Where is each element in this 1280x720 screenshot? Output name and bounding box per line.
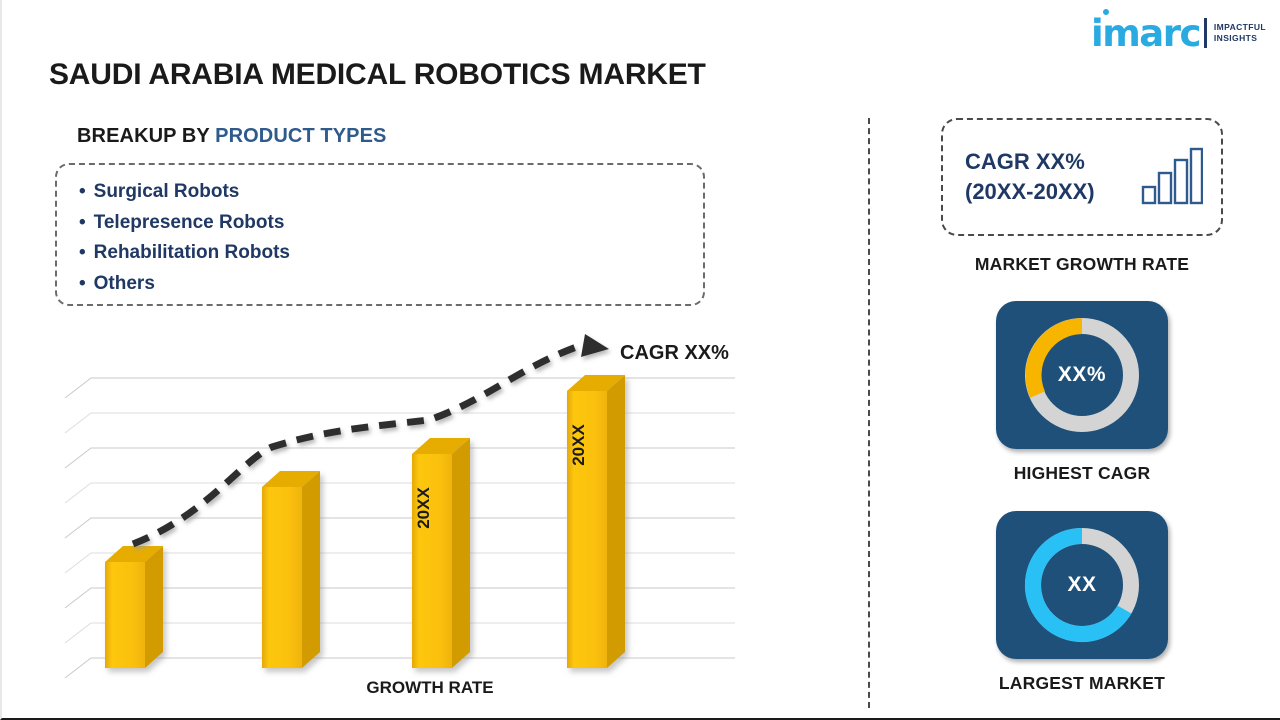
largest-market-caption: LARGEST MARKET	[902, 673, 1262, 694]
breakup-heading: BREAKUP BY PRODUCT TYPES	[77, 125, 387, 148]
product-types-list: Surgical Robots Telepresence Robots Reha…	[57, 165, 703, 299]
list-item: Others	[79, 269, 703, 300]
largest-market-tile: XX	[996, 511, 1168, 659]
market-growth-rate-caption: MARKET GROWTH RATE	[902, 254, 1262, 275]
cagr-line1: CAGR XX%	[965, 147, 1095, 177]
cagr-box: CAGR XX% (20XX-20XX)	[941, 118, 1223, 236]
stats-column: CAGR XX% (20XX-20XX) MARKET GROWTH RATE …	[902, 118, 1262, 694]
infographic-page: imarc IMPACTFUL INSIGHTS SAUDI ARABIA ME…	[0, 0, 1280, 720]
page-title: SAUDI ARABIA MEDICAL ROBOTICS MARKET	[49, 58, 706, 92]
highest-cagr-caption: HIGHEST CAGR	[902, 463, 1262, 484]
trend-arrow	[133, 334, 609, 544]
bar-4	[567, 375, 625, 668]
highest-cagr-tile: XX%	[996, 301, 1168, 449]
cagr-callout: CAGR XX%	[620, 342, 729, 365]
growth-rate-bar-chart: 20XX 20XX CAGR XX% GROWTH RATE	[57, 330, 757, 690]
logo-separator	[1204, 18, 1207, 48]
bar-1	[105, 546, 163, 668]
bar-2	[262, 471, 320, 668]
logo-tagline-line1: IMPACTFUL	[1214, 22, 1266, 33]
bar-3	[412, 438, 470, 668]
list-item: Telepresence Robots	[79, 208, 703, 239]
logo-tagline: IMPACTFUL INSIGHTS	[1214, 22, 1266, 45]
bar-chart-icon	[1141, 147, 1203, 205]
largest-market-value: XX	[1067, 573, 1096, 597]
chart-canvas	[57, 330, 757, 690]
logo-wordmark: imarc	[1091, 15, 1200, 52]
cagr-box-text: CAGR XX% (20XX-20XX)	[965, 147, 1095, 207]
highest-cagr-value: XX%	[1058, 363, 1106, 387]
bar-label-3: 20XX	[414, 487, 434, 529]
imarc-logo: imarc IMPACTFUL INSIGHTS	[1091, 12, 1266, 54]
cagr-line2: (20XX-20XX)	[965, 177, 1095, 207]
breakup-accent: PRODUCT TYPES	[215, 125, 386, 147]
product-types-box: Surgical Robots Telepresence Robots Reha…	[55, 163, 705, 306]
chart-xlabel: GROWTH RATE	[345, 678, 515, 698]
logo-tagline-line2: INSIGHTS	[1214, 33, 1266, 44]
logo-dot-icon	[1103, 9, 1109, 15]
bar-label-4: 20XX	[569, 424, 589, 466]
vertical-divider	[868, 118, 870, 708]
breakup-prefix: BREAKUP BY	[77, 125, 215, 147]
list-item: Surgical Robots	[79, 177, 703, 208]
list-item: Rehabilitation Robots	[79, 238, 703, 269]
